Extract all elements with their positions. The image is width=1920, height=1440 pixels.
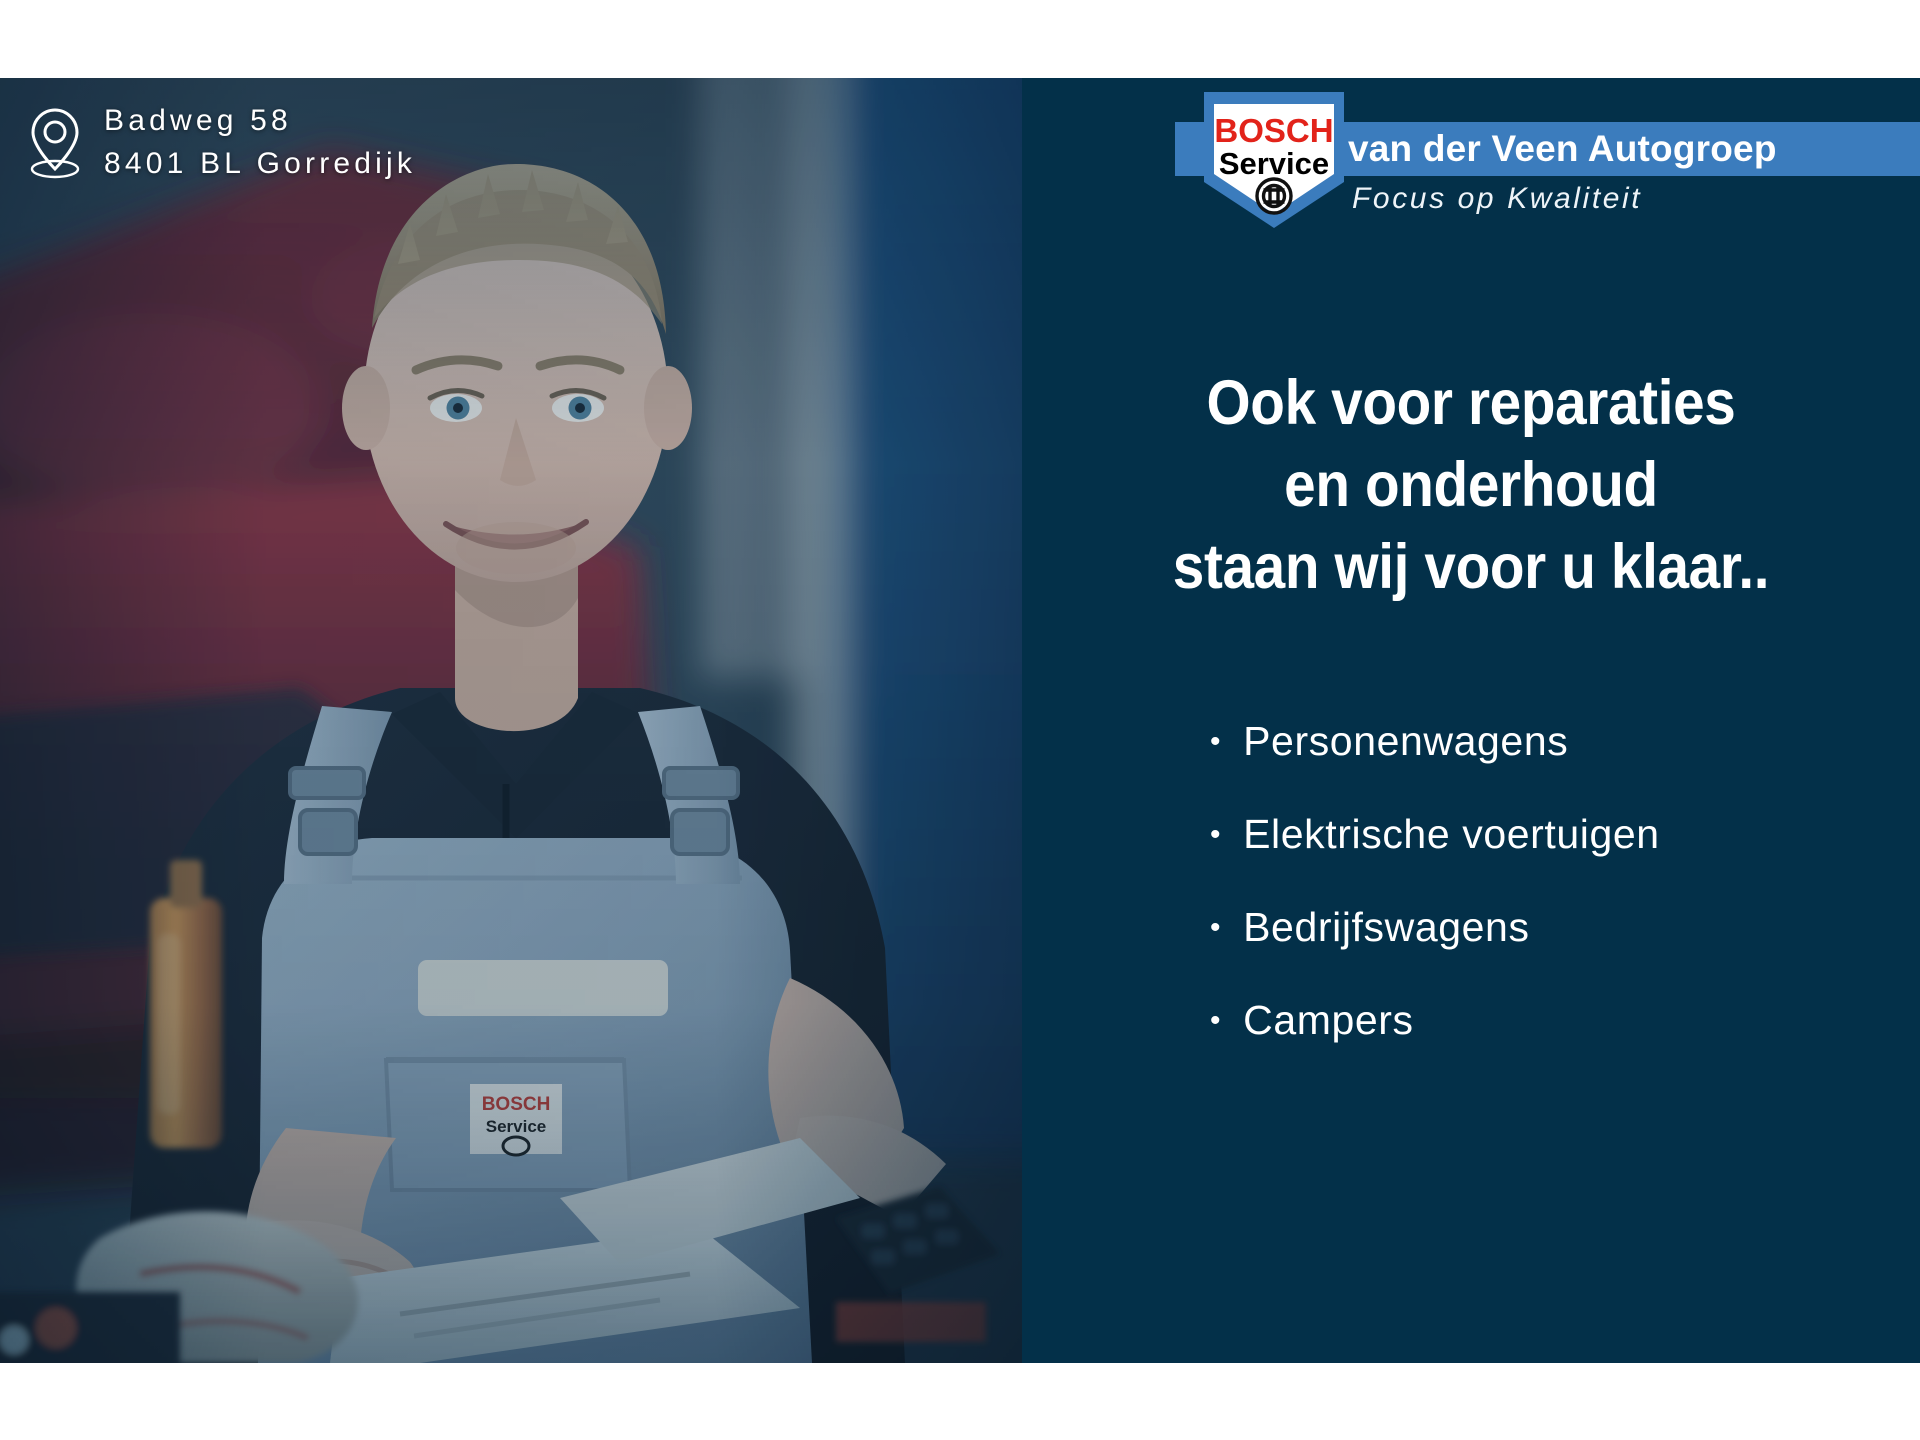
list-item-label: Bedrijfswagens — [1243, 904, 1529, 951]
list-item: • Bedrijfswagens — [1210, 904, 1920, 951]
bullet-icon: • — [1210, 913, 1221, 943]
svg-text:BOSCH: BOSCH — [482, 1094, 551, 1115]
bullet-icon: • — [1210, 1006, 1221, 1036]
headline-line-3: staan wij voor u klaar.. — [1067, 527, 1875, 609]
bosch-wordmark: BOSCH — [1214, 112, 1333, 149]
address-text: Badweg 58 8401 BL Gorredijk — [104, 100, 416, 185]
brand-header: van der Veen Autogroep Focus op Kwalitei… — [1022, 78, 1920, 228]
company-name: van der Veen Autogroep — [1348, 122, 1777, 176]
list-item-label: Personenwagens — [1243, 718, 1568, 765]
bosch-service-logo: BOSCH Service — [1200, 90, 1348, 230]
location-address: Badweg 58 8401 BL Gorredijk — [28, 100, 416, 185]
bullet-icon: • — [1210, 820, 1221, 850]
list-item: • Elektrische voertuigen — [1210, 811, 1920, 858]
list-item: • Campers — [1210, 997, 1920, 1044]
map-pin-icon — [28, 107, 82, 179]
list-item-label: Elektrische voertuigen — [1243, 811, 1660, 858]
list-item-label: Campers — [1243, 997, 1414, 1044]
info-panel: van der Veen Autogroep Focus op Kwalitei… — [1022, 78, 1920, 1363]
address-street: Badweg 58 — [104, 100, 416, 143]
company-tagline: Focus op Kwaliteit — [1352, 182, 1642, 216]
service-wordmark: Service — [1219, 146, 1329, 181]
bullet-icon: • — [1210, 727, 1221, 757]
bottle — [150, 860, 222, 1148]
services-list: • Personenwagens • Elektrische voertuige… — [1210, 718, 1920, 1090]
advertisement-canvas: BOSCH Service — [0, 78, 1920, 1363]
mechanic-photo: BOSCH Service — [0, 78, 1022, 1363]
bosch-patch-on-overalls: BOSCH Service — [470, 1084, 562, 1155]
svg-text:Service: Service — [486, 1117, 547, 1136]
headline-line-2: en onderhoud — [1067, 445, 1875, 527]
workshop-scene-illustration: BOSCH Service — [0, 78, 1022, 1363]
list-item: • Personenwagens — [1210, 718, 1920, 765]
address-postal-city: 8401 BL Gorredijk — [104, 143, 416, 186]
headline-line-1: Ook voor reparaties — [1067, 363, 1875, 445]
headline: Ook voor reparaties en onderhoud staan w… — [1067, 363, 1875, 609]
